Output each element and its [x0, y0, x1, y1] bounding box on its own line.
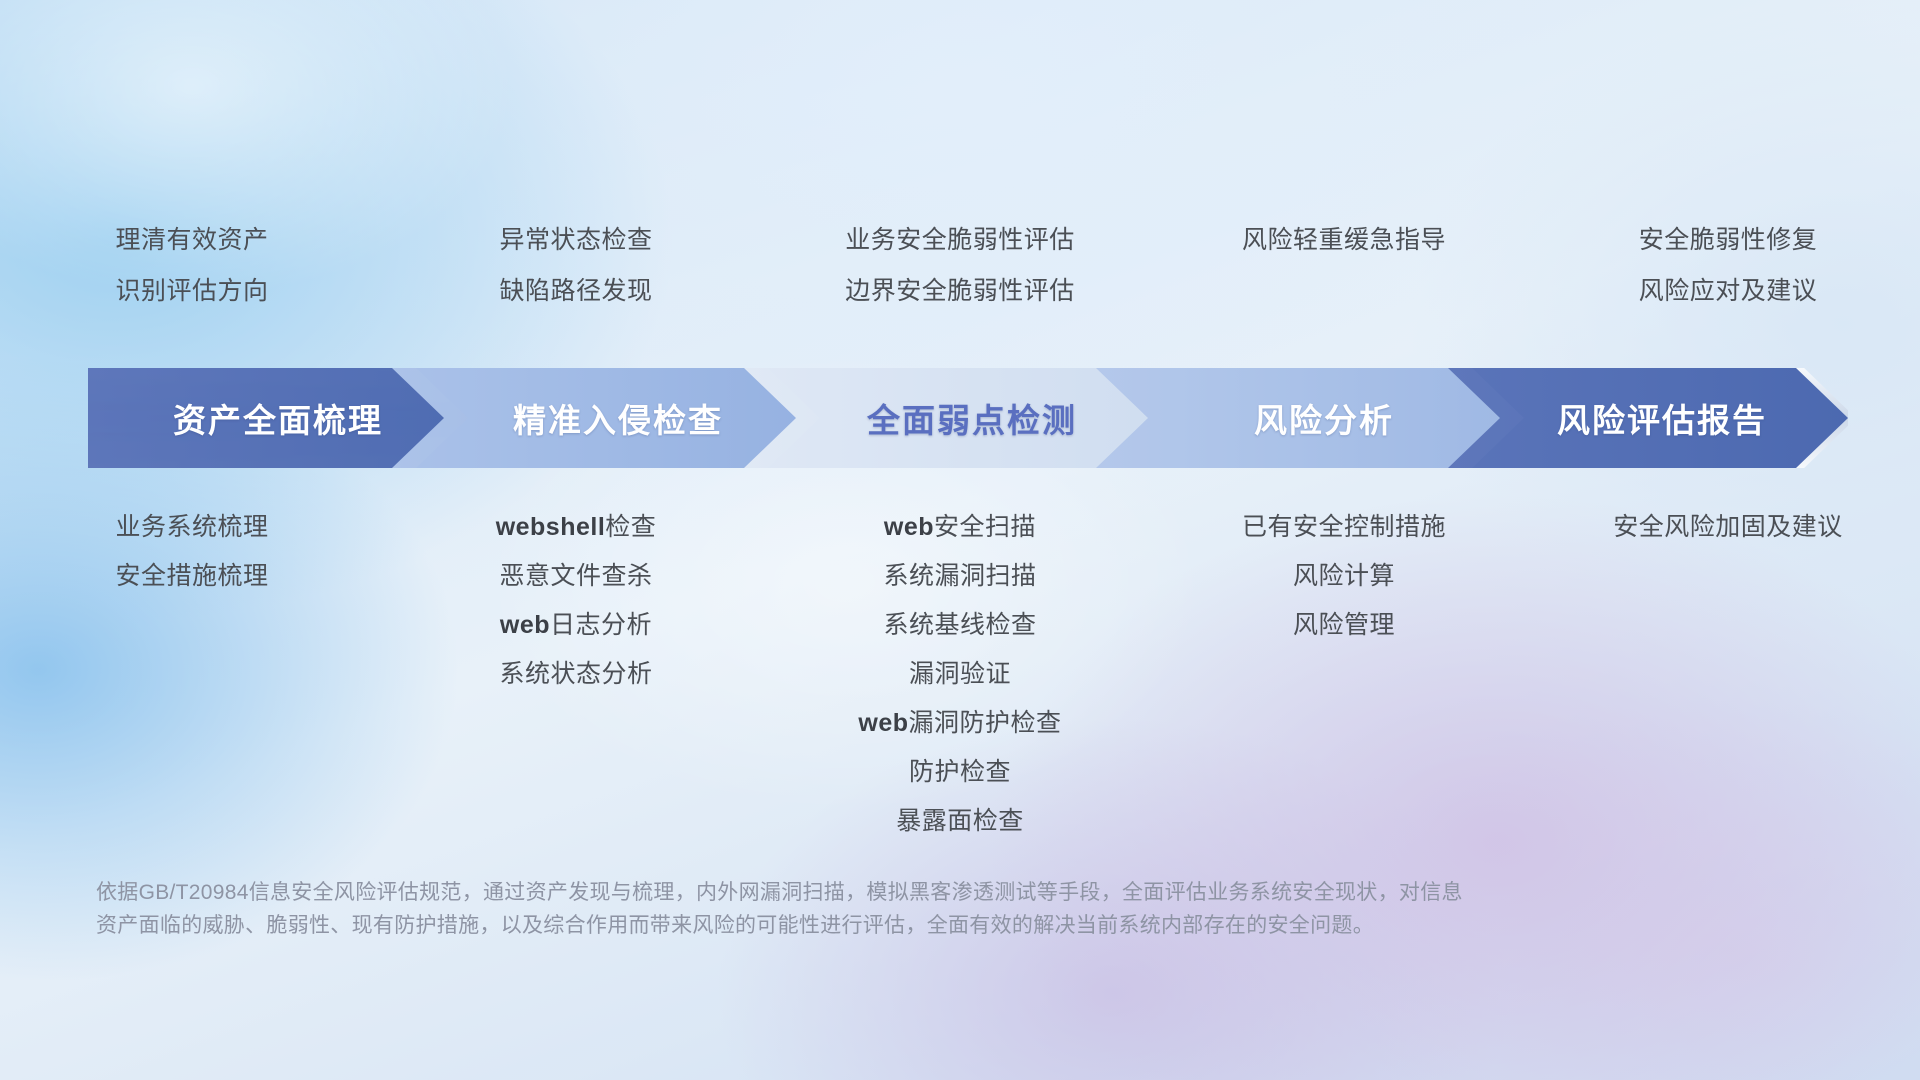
bottom-item: web日志分析	[384, 613, 768, 638]
bottom-column-risk-report: 安全风险加固及建议	[1536, 515, 1920, 858]
stage-label-5[interactable]: 风险评估报告	[1476, 368, 1848, 468]
footer-line-1: 依据GB/T20984信息安全风险评估规范，通过资产发现与梳理，内外网漏洞扫描，…	[96, 876, 1656, 909]
bottom-item: 系统基线检查	[768, 613, 1152, 638]
bottom-item: 风险管理	[1152, 613, 1536, 638]
bottom-item: 暴露面检查	[768, 809, 1152, 834]
bottom-column-weakness-detection: web安全扫描系统漏洞扫描系统基线检查漏洞验证web漏洞防护检查防护检查暴露面检…	[768, 515, 1152, 858]
top-item: 缺陷路径发现	[384, 279, 768, 304]
bottom-item: 风险计算	[1152, 564, 1536, 589]
stage-label-2[interactable]: 精准入侵检查	[418, 368, 818, 468]
bottom-item: 业务系统梳理	[0, 515, 384, 540]
top-item: 识别评估方向	[0, 279, 384, 304]
top-item: 风险应对及建议	[1536, 279, 1920, 304]
top-column-weakness-detection: 业务安全脆弱性评估边界安全脆弱性评估	[768, 228, 1152, 330]
bottom-item: 安全风险加固及建议	[1536, 515, 1920, 540]
bottom-item: web漏洞防护检查	[768, 711, 1152, 736]
top-column-intrusion-check: 异常状态检查缺陷路径发现	[384, 228, 768, 330]
top-column-risk-analysis: 风险轻重缓急指导	[1152, 228, 1536, 330]
footer-description: 依据GB/T20984信息安全风险评估规范，通过资产发现与梳理，内外网漏洞扫描，…	[96, 876, 1656, 942]
stage-label-4[interactable]: 风险分析	[1124, 368, 1524, 468]
bottom-item: 防护检查	[768, 760, 1152, 785]
process-arrow-banner: 资产全面梳理 精准入侵检查 全面弱点检测 风险分析 风险评估报告	[88, 368, 1848, 468]
top-column-asset-inventory: 理清有效资产识别评估方向	[0, 228, 384, 330]
bottom-item-rest: 检查	[605, 513, 656, 541]
bottom-item-emphasis: web	[500, 611, 550, 639]
stage-label-1[interactable]: 资产全面梳理	[88, 368, 468, 468]
footer-line-2: 资产面临的威胁、脆弱性、现有防护措施，以及综合作用而带来风险的可能性进行评估，全…	[96, 909, 1656, 942]
bottom-item-emphasis: webshell	[496, 513, 606, 541]
bottom-item: 系统漏洞扫描	[768, 564, 1152, 589]
bottom-item: 已有安全控制措施	[1152, 515, 1536, 540]
process-diagram: 理清有效资产识别评估方向异常状态检查缺陷路径发现业务安全脆弱性评估边界安全脆弱性…	[0, 0, 1920, 1080]
top-column-risk-report: 安全脆弱性修复风险应对及建议	[1536, 228, 1920, 330]
top-item: 理清有效资产	[0, 228, 384, 253]
bottom-item-rest: 日志分析	[550, 611, 652, 639]
top-annotations-row: 理清有效资产识别评估方向异常状态检查缺陷路径发现业务安全脆弱性评估边界安全脆弱性…	[0, 228, 1920, 330]
top-item: 业务安全脆弱性评估	[768, 228, 1152, 253]
bottom-task-lists-row: 业务系统梳理安全措施梳理webshell检查恶意文件查杀web日志分析系统状态分…	[0, 515, 1920, 858]
top-item: 边界安全脆弱性评估	[768, 279, 1152, 304]
top-item: 异常状态检查	[384, 228, 768, 253]
top-item: 安全脆弱性修复	[1536, 228, 1920, 253]
bottom-item: web安全扫描	[768, 515, 1152, 540]
bottom-column-intrusion-check: webshell检查恶意文件查杀web日志分析系统状态分析	[384, 515, 768, 858]
bottom-item: webshell检查	[384, 515, 768, 540]
bottom-item: 恶意文件查杀	[384, 564, 768, 589]
bottom-item-rest: 安全扫描	[934, 513, 1036, 541]
bottom-item-emphasis: web	[884, 513, 934, 541]
stage-label-3[interactable]: 全面弱点检测	[772, 368, 1172, 468]
bottom-item-rest: 漏洞防护检查	[909, 709, 1062, 737]
bottom-item: 安全措施梳理	[0, 564, 384, 589]
bottom-column-risk-analysis: 已有安全控制措施风险计算风险管理	[1152, 515, 1536, 858]
top-item: 风险轻重缓急指导	[1152, 228, 1536, 253]
bottom-column-asset-inventory: 业务系统梳理安全措施梳理	[0, 515, 384, 858]
bottom-item-emphasis: web	[858, 709, 908, 737]
bottom-item: 漏洞验证	[768, 662, 1152, 687]
bottom-item: 系统状态分析	[384, 662, 768, 687]
